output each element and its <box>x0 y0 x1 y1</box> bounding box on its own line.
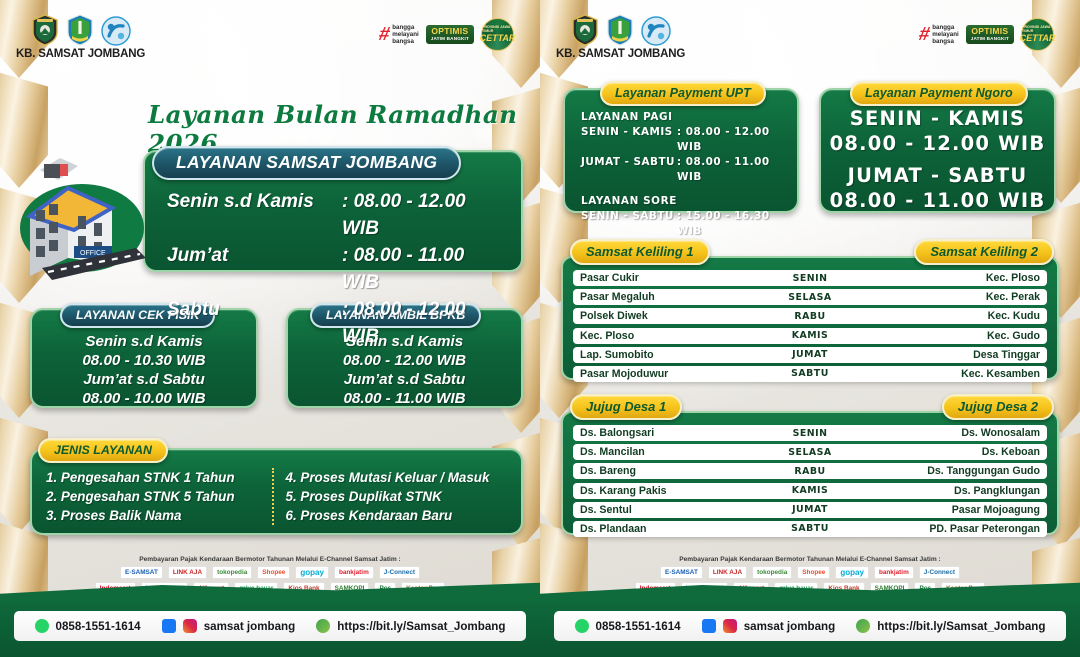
gopay-logo-icon: gopay <box>295 566 329 579</box>
government-logo-row: # bangga melayani bangsa OPTIMIS JATIM B… <box>379 18 514 51</box>
facebook-icon <box>702 619 716 633</box>
location-2: PD. Pasar Peterongan <box>872 523 1040 535</box>
echannel-caption: Pembayaran Pajak Kendaraan Bermotor Tahu… <box>618 556 1002 563</box>
optimis-jatim-bangkit-logo-icon: OPTIMIS JATIM BANGKIT <box>426 25 474 44</box>
bangga-melayani-bangsa-logo-icon: # bangga melayani bangsa <box>379 24 419 46</box>
location-2: Kec. Gudo <box>872 330 1040 342</box>
tokopedia-logo-icon: tokopedia <box>212 566 252 579</box>
ngoro-block1-line2: 08.00 - 12.00 WIB <box>821 131 1054 156</box>
footer-social-text: samsat jombang <box>204 620 296 633</box>
bapenda-jatim-logo-icon <box>641 16 671 46</box>
location-2: Ds. Pangklungan <box>872 485 1040 497</box>
schedule-time: : 08.00 - 12.00 WIB <box>342 188 505 242</box>
echannel-caption: Pembayaran Pajak Kendaraan Bermotor Tahu… <box>78 556 462 563</box>
upt-time: : 08.00 - 11.00 WIB <box>677 155 787 185</box>
ambil-bpkb-line: 08.00 - 11.00 WIB <box>288 389 521 408</box>
jujug-desa-rows: Ds. Balongsari SENIN Ds. Wonosalam Ds. M… <box>573 425 1047 537</box>
jujug-desa-2-pill: Jujug Desa 2 <box>942 394 1054 420</box>
optimis-line2: JATIM BANGKIT <box>431 36 469 42</box>
police-crest-icon <box>571 14 599 46</box>
table-row: Ds. Balongsari SENIN Ds. Wonosalam <box>573 425 1047 441</box>
location-2: Desa Tinggar <box>872 349 1040 361</box>
bankjatim-logo-icon: bankjatim <box>334 566 374 579</box>
footer-url[interactable]: https://bit.ly/Samsat_Jombang <box>856 619 1045 633</box>
location-2: Ds. Keboan <box>872 446 1040 458</box>
echannel-logo-row-1: E-SAMSAT LINK AJA tokopedia Shopee gopay… <box>78 566 462 579</box>
upt-day: SENIN - KAMIS <box>581 125 677 155</box>
jenis-layanan-item: 1. Pengesahan STNK 1 Tahun <box>46 468 272 487</box>
upt-sore-heading: LAYANAN SORE <box>581 194 787 209</box>
ambil-bpkb-lines: Senin s.d Kamis 08.00 - 12.00 WIB Jum’at… <box>288 332 521 408</box>
right-poster-panel: KB. SAMSAT JOMBANG # bangga melayani ban… <box>540 0 1080 657</box>
instagram-icon <box>723 619 737 633</box>
table-row: Ds. Bareng RABU Ds. Tanggungan Gudo <box>573 463 1047 479</box>
upt-day: JUMAT - SABTU <box>581 155 677 185</box>
footer-phone-text: 0858-1551-1614 <box>56 620 141 633</box>
gopay-logo-icon: gopay <box>835 566 869 579</box>
day: SELASA <box>748 292 872 303</box>
jenis-layanan-item: 2. Pengesahan STNK 5 Tahun <box>46 487 272 506</box>
jenis-layanan-pill: JENIS LAYANAN <box>38 438 168 463</box>
location-1: Lap. Sumobito <box>580 349 748 361</box>
schedule-day: Jum’at <box>167 242 342 296</box>
ambil-bpkb-line: Senin s.d Kamis <box>288 332 521 351</box>
website-icon <box>856 619 870 633</box>
jombang-regency-crest-icon <box>606 14 634 46</box>
cettar-badge-icon: PROVINSI JAWA TIMUR CETTAR <box>481 18 514 51</box>
location-2: Ds. Tanggungan Gudo <box>872 465 1040 477</box>
ambil-bpkb-line: Jum’at s.d Sabtu <box>288 370 521 389</box>
day: KAMIS <box>748 485 872 496</box>
optimis-line1: OPTIMIS <box>431 27 469 36</box>
table-row: Polsek Diwek RABU Kec. Kudu <box>573 308 1047 324</box>
upt-pagi-heading: LAYANAN PAGI <box>581 110 787 125</box>
cek-fisik-line: 08.00 - 10.30 WIB <box>32 351 256 370</box>
table-row: Ds. Karang Pakis KAMIS Ds. Pangklungan <box>573 483 1047 499</box>
cettar-line2: CETTAR <box>480 34 516 43</box>
upt-body: LAYANAN PAGI SENIN - KAMIS : 08.00 - 12.… <box>581 110 787 239</box>
brand-lockup: KB. SAMSAT JOMBANG <box>16 14 145 60</box>
upt-pagi-row: JUMAT - SABTU : 08.00 - 11.00 WIB <box>581 155 787 185</box>
cek-fisik-line: Jum’at s.d Sabtu <box>32 370 256 389</box>
samsat-keliling-1-pill: Samsat Keliling 1 <box>570 239 710 265</box>
top-brand-bar: KB. SAMSAT JOMBANG # bangga melayani ban… <box>0 10 540 66</box>
table-row: Pasar Mojoduwur SABTU Kec. Kesamben <box>573 366 1047 382</box>
table-row: Lap. Sumobito JUMAT Desa Tinggar <box>573 347 1047 363</box>
samsat-keliling-table-card: Pasar Cukir SENIN Kec. Ploso Pasar Megal… <box>561 256 1059 380</box>
location-1: Ds. Balongsari <box>580 427 748 439</box>
footer-social-text: samsat jombang <box>744 620 836 633</box>
jujug-desa-table-card: Ds. Balongsari SENIN Ds. Wonosalam Ds. M… <box>561 411 1059 535</box>
day: SENIN <box>748 273 872 284</box>
esamsat-logo-icon: E-SAMSAT <box>660 566 703 579</box>
cettar-badge-icon: PROVINSI JAWA TIMUR CETTAR <box>1021 18 1054 51</box>
jujug-desa-1-pill: Jujug Desa 1 <box>570 394 682 420</box>
bangga-line1: bangga <box>932 24 958 31</box>
linkaja-logo-icon: LINK AJA <box>708 566 747 579</box>
table-row: Ds. Sentul JUMAT Pasar Mojoagung <box>573 502 1047 518</box>
footer-url-text: https://bit.ly/Samsat_Jombang <box>337 620 505 633</box>
shopee-logo-icon: Shopee <box>257 566 290 579</box>
brand-name: KB. SAMSAT JOMBANG <box>556 48 685 60</box>
instagram-icon <box>183 619 197 633</box>
brand-lockup-2: KB. SAMSAT JOMBANG <box>556 14 685 60</box>
layanan-samsat-jombang-pill: LAYANAN SAMSAT JOMBANG <box>152 146 461 180</box>
layanan-payment-ngoro-pill: Layanan Payment Ngoro <box>850 81 1028 106</box>
jombang-regency-crest-icon <box>66 14 94 46</box>
optimis-line2: JATIM BANGKIT <box>971 36 1009 42</box>
poster-stage: KB. SAMSAT JOMBANG # bangga melayani ban… <box>0 0 1080 657</box>
day: SABTU <box>748 368 872 379</box>
location-1: Ds. Bareng <box>580 465 748 477</box>
day: RABU <box>748 466 872 477</box>
website-icon <box>316 619 330 633</box>
layanan-payment-upt-card: LAYANAN PAGI SENIN - KAMIS : 08.00 - 12.… <box>563 88 799 213</box>
table-row: Pasar Megaluh SELASA Kec. Perak <box>573 289 1047 305</box>
day: JUMAT <box>748 504 872 515</box>
upt-sore-row: SENIN - SABTU : 15.00 - 16.30 WIB <box>581 209 787 239</box>
office-building-illustration-icon: OFFICE <box>8 108 150 280</box>
linkaja-logo-icon: LINK AJA <box>168 566 207 579</box>
cek-fisik-lines: Senin s.d Kamis 08.00 - 10.30 WIB Jum’at… <box>32 332 256 408</box>
location-2: Kec. Kudu <box>872 310 1040 322</box>
location-1: Ds. Mancilan <box>580 446 748 458</box>
bapenda-jatim-logo-icon <box>101 16 131 46</box>
location-2: Kec. Ploso <box>872 272 1040 284</box>
table-row: Ds. Mancilan SELASA Ds. Keboan <box>573 444 1047 460</box>
footer-phone-text: 0858-1551-1614 <box>596 620 681 633</box>
jenis-layanan-item: 5. Proses Duplikat STNK <box>286 487 512 506</box>
location-2: Pasar Mojoagung <box>872 504 1040 516</box>
footer-url[interactable]: https://bit.ly/Samsat_Jombang <box>316 619 505 633</box>
bangga-line3: bangsa <box>932 38 958 45</box>
location-1: Kec. Ploso <box>580 330 748 342</box>
location-1: Pasar Megaluh <box>580 291 748 303</box>
location-1: Ds. Karang Pakis <box>580 485 748 497</box>
brand-name: KB. SAMSAT JOMBANG <box>16 48 145 60</box>
ambil-bpkb-line: 08.00 - 12.00 WIB <box>288 351 521 370</box>
upt-time: : 15.00 - 16.30 WIB <box>677 209 787 239</box>
jenis-layanan-left-column: 1. Pengesahan STNK 1 Tahun 2. Pengesahan… <box>46 468 272 525</box>
location-2: Kec. Kesamben <box>872 368 1040 380</box>
top-brand-bar-2: KB. SAMSAT JOMBANG # bangga melayani ban… <box>540 10 1080 66</box>
tokopedia-logo-icon: tokopedia <box>752 566 792 579</box>
bangga-line1: bangga <box>392 24 418 31</box>
day: JUMAT <box>748 349 872 360</box>
footer-phone[interactable]: 0858-1551-1614 <box>35 619 141 633</box>
day: SENIN <box>748 428 872 439</box>
footer-contact-bar-left: 0858-1551-1614 samsat jombang https://bi… <box>0 595 540 657</box>
jenis-layanan-item: 3. Proses Balik Nama <box>46 506 272 525</box>
schedule-row: Senin s.d Kamis : 08.00 - 12.00 WIB <box>167 188 505 242</box>
day: SABTU <box>748 523 872 534</box>
footer-social[interactable]: samsat jombang <box>162 619 296 633</box>
location-1: Pasar Mojoduwur <box>580 368 748 380</box>
jconnect-logo-icon: J-Connect <box>919 566 960 579</box>
whatsapp-icon <box>575 619 589 633</box>
location-2: Kec. Perak <box>872 291 1040 303</box>
layanan-payment-ngoro-card: SENIN - KAMIS 08.00 - 12.00 WIB JUMAT - … <box>819 88 1056 213</box>
footer-phone[interactable]: 0858-1551-1614 <box>575 619 681 633</box>
bangga-line3: bangsa <box>392 38 418 45</box>
cek-fisik-line: Senin s.d Kamis <box>32 332 256 351</box>
table-row: Pasar Cukir SENIN Kec. Ploso <box>573 270 1047 286</box>
schedule-time: : 08.00 - 11.00 WIB <box>342 242 505 296</box>
upt-time: : 08.00 - 12.00 WIB <box>677 125 787 155</box>
shopee-logo-icon: Shopee <box>797 566 830 579</box>
cettar-line2: CETTAR <box>1020 34 1056 43</box>
upt-day: SENIN - SABTU <box>581 209 677 239</box>
day: KAMIS <box>748 330 872 341</box>
jenis-layanan-right-column: 4. Proses Mutasi Keluar / Masuk 5. Prose… <box>272 468 512 525</box>
table-row: Ds. Plandaan SABTU PD. Pasar Peterongan <box>573 521 1047 537</box>
footer-url-text: https://bit.ly/Samsat_Jombang <box>877 620 1045 633</box>
ngoro-block1-line1: SENIN - KAMIS <box>821 106 1054 131</box>
left-poster-panel: KB. SAMSAT JOMBANG # bangga melayani ban… <box>0 0 540 657</box>
table-row: Kec. Ploso KAMIS Kec. Gudo <box>573 328 1047 344</box>
main-schedule-rows: Senin s.d Kamis : 08.00 - 12.00 WIB Jum’… <box>167 188 505 350</box>
samsat-keliling-rows: Pasar Cukir SENIN Kec. Ploso Pasar Megal… <box>573 270 1047 382</box>
schedule-row: Jum’at : 08.00 - 11.00 WIB <box>167 242 505 296</box>
hash-glyph: # <box>917 25 932 44</box>
bangga-melayani-bangsa-logo-icon: # bangga melayani bangsa <box>919 24 959 46</box>
optimis-jatim-bangkit-logo-icon: OPTIMIS JATIM BANGKIT <box>966 25 1014 44</box>
optimis-line1: OPTIMIS <box>971 27 1009 36</box>
jconnect-logo-icon: J-Connect <box>379 566 420 579</box>
hash-glyph: # <box>377 25 392 44</box>
bangga-line2: melayani <box>392 31 418 38</box>
jenis-layanan-item: 6. Proses Kendaraan Baru <box>286 506 512 525</box>
layanan-payment-upt-pill: Layanan Payment UPT <box>600 81 766 106</box>
echannel-logo-row-1: E-SAMSAT LINK AJA tokopedia Shopee gopay… <box>618 566 1002 579</box>
jenis-layanan-grid: 1. Pengesahan STNK 1 Tahun 2. Pengesahan… <box>46 468 511 525</box>
day: RABU <box>748 311 872 322</box>
location-1: Ds. Plandaan <box>580 523 748 535</box>
esamsat-logo-icon: E-SAMSAT <box>120 566 163 579</box>
upt-pagi-row: SENIN - KAMIS : 08.00 - 12.00 WIB <box>581 125 787 155</box>
police-crest-icon <box>31 14 59 46</box>
ngoro-block2-line2: 08.00 - 11.00 WIB <box>821 188 1054 213</box>
bangga-line2: melayani <box>932 31 958 38</box>
schedule-day: Senin s.d Kamis <box>167 188 342 242</box>
location-2: Ds. Wonosalam <box>872 427 1040 439</box>
samsat-keliling-2-pill: Samsat Keliling 2 <box>914 239 1054 265</box>
location-1: Ds. Sentul <box>580 504 748 516</box>
ngoro-block2-line1: JUMAT - SABTU <box>821 163 1054 188</box>
day: SELASA <box>748 447 872 458</box>
whatsapp-icon <box>35 619 49 633</box>
footer-social[interactable]: samsat jombang <box>702 619 836 633</box>
facebook-icon <box>162 619 176 633</box>
jenis-layanan-item: 4. Proses Mutasi Keluar / Masuk <box>286 468 512 487</box>
government-logo-row-2: # bangga melayani bangsa OPTIMIS JATIM B… <box>919 18 1054 51</box>
cek-fisik-line: 08.00 - 10.00 WIB <box>32 389 256 408</box>
bankjatim-logo-icon: bankjatim <box>874 566 914 579</box>
footer-contact-bar-right: 0858-1551-1614 samsat jombang https://bi… <box>540 595 1080 657</box>
location-1: Polsek Diwek <box>580 310 748 322</box>
location-1: Pasar Cukir <box>580 272 748 284</box>
ngoro-body: SENIN - KAMIS 08.00 - 12.00 WIB JUMAT - … <box>821 106 1054 213</box>
